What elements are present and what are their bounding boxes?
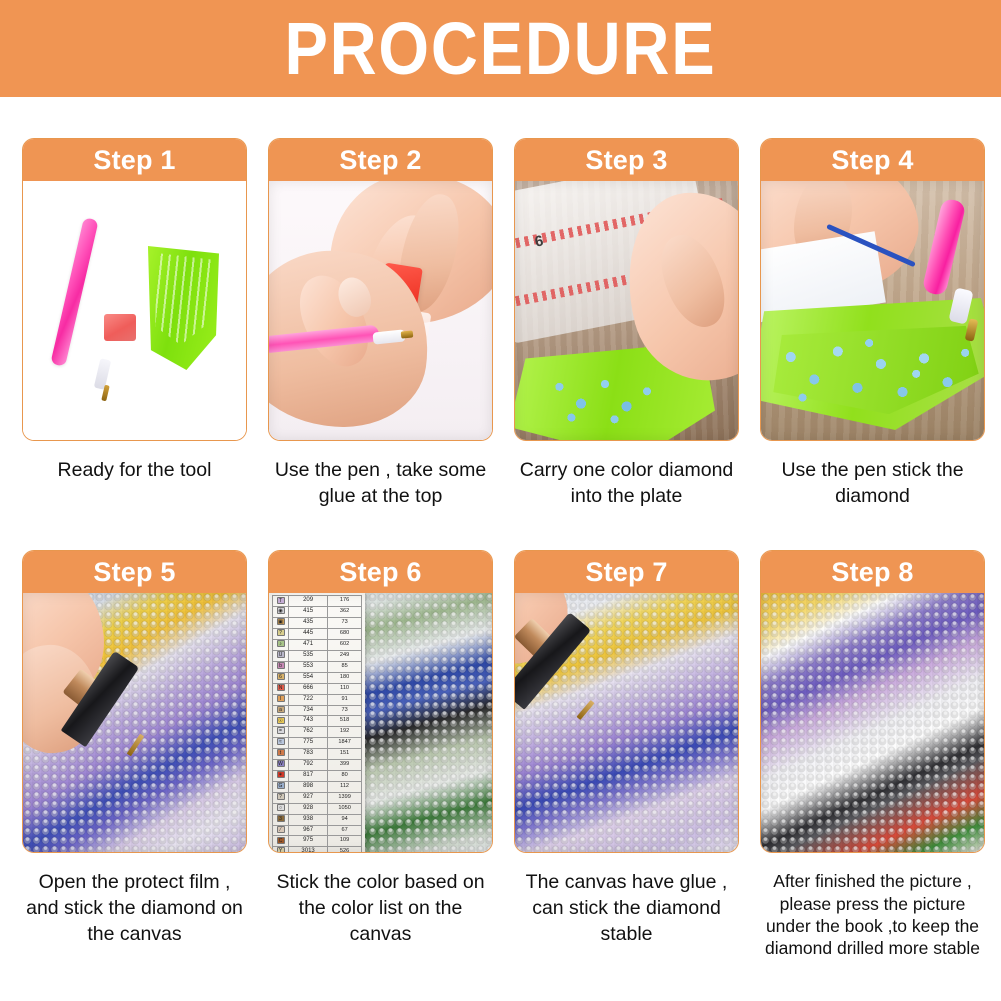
color-swatch-icon: ♪	[277, 640, 285, 647]
chart-symbol-cell: 3	[273, 814, 289, 825]
chart-symbol-cell: ○	[273, 803, 289, 814]
chart-count-cell: 176	[328, 596, 362, 607]
chart-code-cell: 927	[289, 792, 328, 803]
step-7-image	[515, 593, 738, 852]
chart-code-cell: 435	[289, 618, 328, 629]
step-1-header: Step 1	[23, 139, 246, 181]
canvas-sticking-photo	[23, 593, 246, 852]
chart-count-cell: 362	[328, 607, 362, 618]
step-card-8: Step 8 After finished the picture , plea…	[760, 550, 985, 958]
chart-symbol-cell: N	[273, 683, 289, 694]
chart-row: ▣43573	[273, 618, 362, 629]
step-8-image	[761, 593, 984, 852]
step-4-card: Step 4	[760, 138, 985, 441]
chart-count-cell: 94	[328, 814, 362, 825]
step-card-5: Step 5 Open t	[22, 550, 247, 958]
chart-count-cell: 80	[328, 770, 362, 781]
step-3-card: Step 3 6	[514, 138, 739, 441]
chart-row: C975109	[273, 836, 362, 847]
chart-code-cell: 928	[289, 803, 328, 814]
color-chart-photo: T209176◉415362▣43573?445680♪471602U53524…	[269, 593, 492, 852]
glue-dipping-photo	[269, 181, 492, 440]
steps-row-top: Step 1 Ready for the tool	[22, 138, 979, 509]
color-swatch-icon: Y	[277, 847, 285, 852]
chart-row: b55385	[273, 661, 362, 672]
step-7-caption: The canvas have glue , can stick the dia…	[514, 870, 739, 947]
step-8-card: Step 8	[760, 550, 985, 853]
step-2-header-label: Step 2	[339, 145, 421, 176]
chart-code-cell: 743	[289, 716, 328, 727]
step-7-header: Step 7	[515, 551, 738, 593]
step-6-caption: Stick the color based on the color list …	[268, 870, 493, 947]
chart-symbol-cell: ▣	[273, 618, 289, 629]
color-swatch-icon: I	[277, 695, 285, 702]
step-5-header: Step 5	[23, 551, 246, 593]
chart-row: N666110	[273, 683, 362, 694]
chart-count-cell: 192	[328, 727, 362, 738]
color-swatch-icon: t	[277, 749, 285, 756]
chart-row: ♪471602	[273, 640, 362, 651]
chart-row: ✶81780	[273, 770, 362, 781]
chart-code-cell: 3013	[289, 847, 328, 853]
chart-symbol-cell: ✶	[273, 770, 289, 781]
color-swatch-icon: a	[277, 706, 285, 713]
steps-grid: Step 1 Ready for the tool	[0, 138, 1001, 959]
chart-symbol-cell: 6	[273, 672, 289, 683]
color-swatch-icon: ◉	[277, 607, 285, 614]
chart-code-cell: 817	[289, 770, 328, 781]
chart-symbol-cell: Y	[273, 847, 289, 853]
chart-count-cell: 680	[328, 629, 362, 640]
step-7-card: Step 7	[514, 550, 739, 853]
step-4-header-label: Step 4	[831, 145, 913, 176]
step-3-caption: Carry one color diamond into the plate	[514, 458, 739, 509]
step-2-card: Step 2	[268, 138, 493, 441]
glued-canvas-photo	[515, 593, 738, 852]
chart-count-cell: 249	[328, 651, 362, 662]
chart-code-cell: 445	[289, 629, 328, 640]
color-swatch-icon: N	[277, 684, 285, 691]
color-swatch-icon: 3	[277, 815, 285, 822]
diamond-canvas-icon	[761, 593, 984, 852]
step-1-card: Step 1	[22, 138, 247, 441]
chart-symbol-cell: ☉	[273, 716, 289, 727]
step-4-header: Step 4	[761, 139, 984, 181]
color-swatch-icon: ≈	[277, 738, 285, 745]
chart-code-cell: 792	[289, 760, 328, 771]
chart-count-cell: 91	[328, 694, 362, 705]
step-6-header-label: Step 6	[339, 557, 421, 588]
chart-code-cell: 722	[289, 694, 328, 705]
chart-count-cell: 112	[328, 781, 362, 792]
chart-code-cell: 967	[289, 825, 328, 836]
chart-count-cell: 526	[328, 847, 362, 853]
color-swatch-icon: ⁄	[277, 826, 285, 833]
step-2-image	[269, 181, 492, 440]
chart-row: ☉743518	[273, 716, 362, 727]
chart-count-cell: 73	[328, 705, 362, 716]
step-3-header-label: Step 3	[585, 145, 667, 176]
chart-row: I72291	[273, 694, 362, 705]
chart-row: ○9281050	[273, 803, 362, 814]
color-swatch-icon: =	[277, 727, 285, 734]
pink-pen-icon	[50, 217, 98, 367]
chart-symbol-cell: t	[273, 749, 289, 760]
chart-count-cell: 1847	[328, 738, 362, 749]
chart-row: U535249	[273, 651, 362, 662]
color-swatch-icon: ☉	[277, 717, 285, 724]
chart-code-cell: 415	[289, 607, 328, 618]
chart-code-cell: 666	[289, 683, 328, 694]
chart-row: Y3013526	[273, 847, 362, 853]
chart-row: ◉415362	[273, 607, 362, 618]
chart-row: a73473	[273, 705, 362, 716]
chart-code-cell: 762	[289, 727, 328, 738]
chart-count-cell: 151	[328, 749, 362, 760]
color-swatch-icon: b	[277, 662, 285, 669]
step-7-header-label: Step 7	[585, 557, 667, 588]
chart-code-cell: 775	[289, 738, 328, 749]
chart-row: =762192	[273, 727, 362, 738]
chart-symbol-cell: U	[273, 651, 289, 662]
chart-row: G898112	[273, 781, 362, 792]
chart-symbol-cell: T	[273, 596, 289, 607]
chart-symbol-cell: b	[273, 661, 289, 672]
color-swatch-icon: ▣	[277, 618, 285, 625]
chart-count-cell: 1050	[328, 803, 362, 814]
chart-count-cell: 602	[328, 640, 362, 651]
chart-count-cell: 518	[328, 716, 362, 727]
chart-symbol-cell: ◉	[273, 607, 289, 618]
chart-code-cell: 975	[289, 836, 328, 847]
chart-code-cell: 553	[289, 661, 328, 672]
step-5-image	[23, 593, 246, 852]
color-chart-table: T209176◉415362▣43573?445680♪471602U53524…	[272, 595, 362, 852]
chart-symbol-cell: C	[273, 836, 289, 847]
step-8-caption: After finished the picture , please pres…	[760, 870, 985, 958]
chart-code-cell: 471	[289, 640, 328, 651]
page-title: PROCEDURE	[285, 12, 717, 86]
blue-diamonds-icon	[779, 336, 975, 406]
glue-square-icon	[104, 314, 136, 341]
step-8-header-label: Step 8	[831, 557, 913, 588]
color-swatch-icon: ○	[277, 804, 285, 811]
chart-symbol-cell: ≈	[273, 738, 289, 749]
chart-symbol-cell: W	[273, 760, 289, 771]
chart-count-cell: 399	[328, 760, 362, 771]
chart-symbol-cell: ?	[273, 792, 289, 803]
chart-symbol-cell: ♪	[273, 640, 289, 651]
step-5-caption: Open the protect film , and stick the di…	[22, 870, 247, 947]
step-3-image: 6	[515, 181, 738, 440]
chart-row: T209176	[273, 596, 362, 607]
step-8-header: Step 8	[761, 551, 984, 593]
step-2-header: Step 2	[269, 139, 492, 181]
chart-count-cell: 1399	[328, 792, 362, 803]
finished-painting-photo	[761, 593, 984, 852]
page-banner: PROCEDURE	[0, 0, 1001, 97]
step-card-4: Step 4	[760, 138, 985, 509]
chart-row: 393894	[273, 814, 362, 825]
step-6-header: Step 6	[269, 551, 492, 593]
color-swatch-icon: G	[277, 782, 285, 789]
step-card-7: Step 7 The canvas have glue	[514, 550, 739, 958]
color-swatch-icon: W	[277, 760, 285, 767]
chart-count-cell: 109	[328, 836, 362, 847]
step-1-header-label: Step 1	[93, 145, 175, 176]
color-swatch-icon: C	[277, 837, 285, 844]
step-1-caption: Ready for the tool	[22, 458, 247, 484]
pour-diamonds-photo: 6	[515, 181, 738, 440]
chart-row: 6554180	[273, 672, 362, 683]
step-6-card: Step 6 T209176◉415362▣43573?445680♪47160…	[268, 550, 493, 853]
chart-count-cell: 73	[328, 618, 362, 629]
color-list-chart: T209176◉415362▣43573?445680♪471602U53524…	[269, 593, 365, 852]
chart-count-cell: 67	[328, 825, 362, 836]
chart-symbol-cell: I	[273, 694, 289, 705]
chart-symbol-cell: ⁄	[273, 825, 289, 836]
step-5-card: Step 5	[22, 550, 247, 853]
tools-photo	[23, 181, 246, 440]
chart-symbol-cell: a	[273, 705, 289, 716]
chart-row: ?9271399	[273, 792, 362, 803]
step-2-caption: Use the pen , take some glue at the top	[268, 458, 493, 509]
color-swatch-icon: ✶	[277, 771, 285, 778]
step-6-image: T209176◉415362▣43573?445680♪471602U53524…	[269, 593, 492, 852]
chart-row: ≈7751847	[273, 738, 362, 749]
chart-row: t783151	[273, 749, 362, 760]
chart-code-cell: 938	[289, 814, 328, 825]
chart-code-cell: 535	[289, 651, 328, 662]
chart-code-cell: 734	[289, 705, 328, 716]
pick-diamond-photo	[761, 181, 984, 440]
chart-count-cell: 85	[328, 661, 362, 672]
chart-symbol-cell: ?	[273, 629, 289, 640]
step-card-2: Step 2	[268, 138, 493, 509]
steps-row-bottom: Step 5 Open t	[22, 550, 979, 958]
blue-diamonds-icon	[545, 370, 665, 426]
color-swatch-icon: ?	[277, 629, 285, 636]
chart-code-cell: 209	[289, 596, 328, 607]
chart-symbol-cell: =	[273, 727, 289, 738]
step-card-6: Step 6 T209176◉415362▣43573?445680♪47160…	[268, 550, 493, 958]
chart-count-cell: 110	[328, 683, 362, 694]
step-4-caption: Use the pen stick the diamond	[760, 458, 985, 509]
chart-row: ?445680	[273, 629, 362, 640]
chart-code-cell: 898	[289, 781, 328, 792]
step-1-image	[23, 181, 246, 440]
color-swatch-icon: 6	[277, 673, 285, 680]
step-card-1: Step 1 Ready for the tool	[22, 138, 247, 509]
chart-code-cell: 783	[289, 749, 328, 760]
chart-count-cell: 180	[328, 672, 362, 683]
color-swatch-icon: T	[277, 597, 285, 604]
pen-needle-icon	[401, 330, 414, 338]
step-4-image	[761, 181, 984, 440]
chart-code-cell: 554	[289, 672, 328, 683]
chart-row: W792399	[273, 760, 362, 771]
color-swatch-icon: U	[277, 651, 285, 658]
chart-symbol-cell: G	[273, 781, 289, 792]
step-card-3: Step 3 6	[514, 138, 739, 509]
chart-row: ⁄96767	[273, 825, 362, 836]
color-swatch-icon: ?	[277, 793, 285, 800]
step-5-header-label: Step 5	[93, 557, 175, 588]
step-3-header: Step 3	[515, 139, 738, 181]
